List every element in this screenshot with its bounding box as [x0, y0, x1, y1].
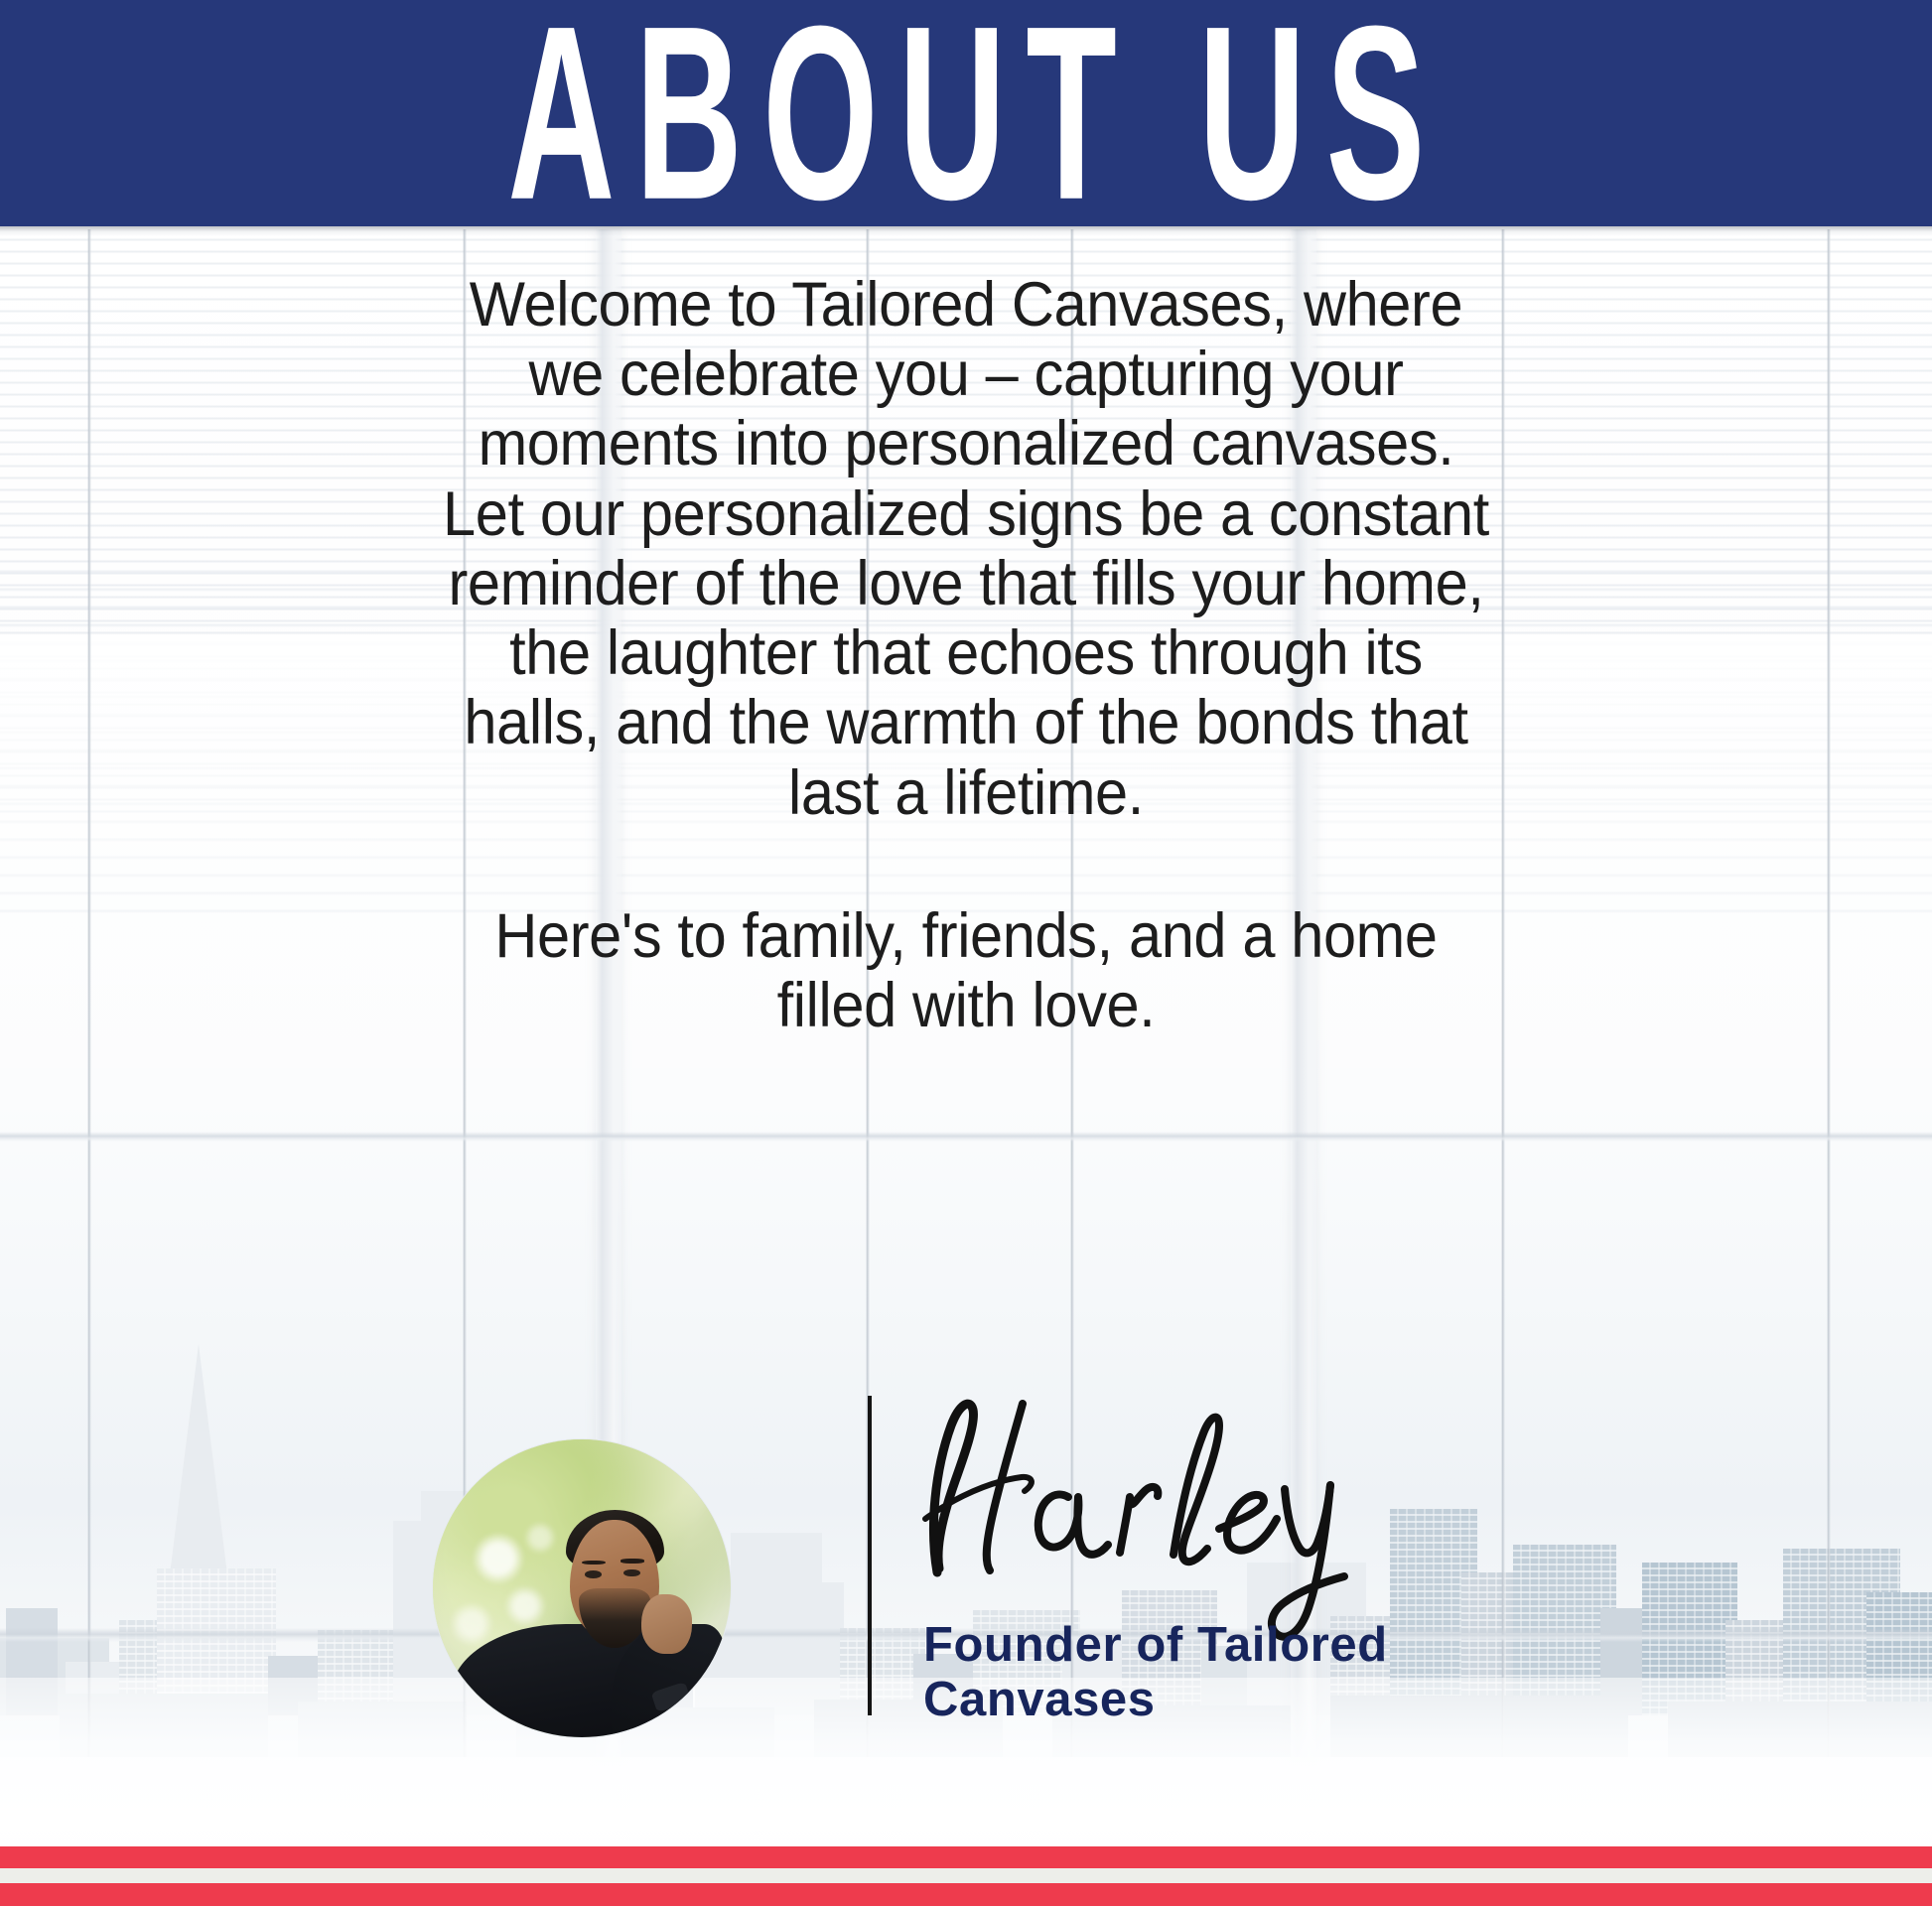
footer-stripes — [0, 1846, 1932, 1906]
harley-script-icon — [874, 1378, 1449, 1606]
header-shadow — [0, 226, 1932, 236]
about-paragraph-2: Here's to family, friends, and a home fi… — [436, 901, 1496, 1040]
signature-divider — [868, 1396, 872, 1715]
founder-line-2: Canvases — [923, 1673, 1559, 1727]
founder-portrait-photo — [433, 1439, 731, 1737]
founder-caption: Founder of Tailored Canvases — [923, 1618, 1559, 1727]
avatar — [433, 1439, 731, 1737]
about-paragraph-1: Welcome to Tailored Canvases, where we c… — [436, 270, 1496, 828]
footer-stripe-bottom — [0, 1883, 1932, 1906]
founder-signature — [874, 1378, 1449, 1606]
founder-signature-block: Founder of Tailored Canvases — [0, 1378, 1932, 1755]
about-us-poster: ABOUT US Welcome to Tailored Canvases, w… — [0, 0, 1932, 1906]
page-header: ABOUT US — [0, 0, 1932, 226]
portrait-vignette — [433, 1439, 731, 1737]
founder-line-1: Founder of Tailored — [923, 1618, 1559, 1673]
footer-stripe-gap — [0, 1868, 1932, 1883]
footer-stripe-top — [0, 1846, 1932, 1868]
page-title: ABOUT US — [487, 0, 1446, 237]
about-copy: Welcome to Tailored Canvases, where we c… — [0, 270, 1932, 1040]
